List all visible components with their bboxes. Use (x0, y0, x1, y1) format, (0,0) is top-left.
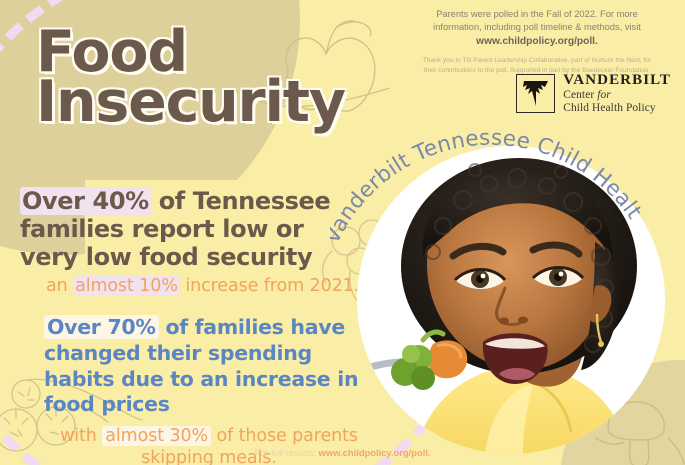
credit-line-2: information, including poll timeline & m… (433, 22, 641, 32)
vanderbilt-sub-line-2: Child Health Policy (563, 102, 671, 115)
vanderbilt-wordmark: VANDERBILT Center for Child Health Polic… (563, 72, 671, 114)
stat-one-sub-suffix: increase from 2021. (180, 276, 359, 296)
credit-line-1: Parents were polled in the Fall of 2022.… (436, 9, 638, 19)
thanks-line-1: Thank you to TN Parent Leadership Collab… (423, 57, 652, 64)
stat-two-subtext: with almost 30% of those parents skippin… (44, 425, 374, 465)
vanderbilt-sub-line-1: Center for (563, 89, 671, 102)
page-title: Food Insecurity (36, 26, 345, 129)
poll-credit-text: Parents were polled in the Fall of 2022.… (403, 8, 671, 50)
vanderbilt-name: VANDERBILT (563, 72, 671, 89)
credit-url-link[interactable]: www.childpolicy.org/poll. (403, 35, 671, 49)
for-word: for (597, 89, 611, 101)
stat-one-subtext: an almost 10% increase from 2021. (46, 276, 360, 296)
footer-url[interactable]: www.childpolicy.org/poll. (319, 447, 431, 458)
credit-block: Parents were polled in the Fall of 2022.… (403, 8, 671, 76)
statistic-one: Over 40% of Tennessee families report lo… (20, 188, 360, 297)
footer-prefix: For full results: (254, 447, 318, 458)
infographic-poster: Parents were polled in the Fall of 2022.… (0, 0, 685, 465)
stat-one-sub-prefix: an (46, 276, 73, 296)
footer-results-link: For full results: www.childpolicy.org/po… (0, 447, 685, 458)
stat-one-sub-highlight: almost 10% (73, 276, 180, 296)
center-word: Center (563, 89, 597, 101)
stat-two-sub-prefix: with (60, 426, 102, 446)
vanderbilt-logo: VANDERBILT Center for Child Health Polic… (516, 72, 671, 114)
child-eating-vegetables-photo (357, 146, 665, 454)
stat-two-sub-highlight: almost 30% (102, 426, 211, 446)
stat-two-highlight: Over 70% (44, 315, 159, 339)
photo-circle-crop (357, 146, 665, 454)
statistic-two: Over 70% of families have changed their … (44, 315, 374, 465)
vanderbilt-v-icon (516, 74, 555, 113)
headline-line-2: Insecurity (36, 76, 345, 128)
stat-one-highlight: Over 40% (20, 187, 151, 215)
